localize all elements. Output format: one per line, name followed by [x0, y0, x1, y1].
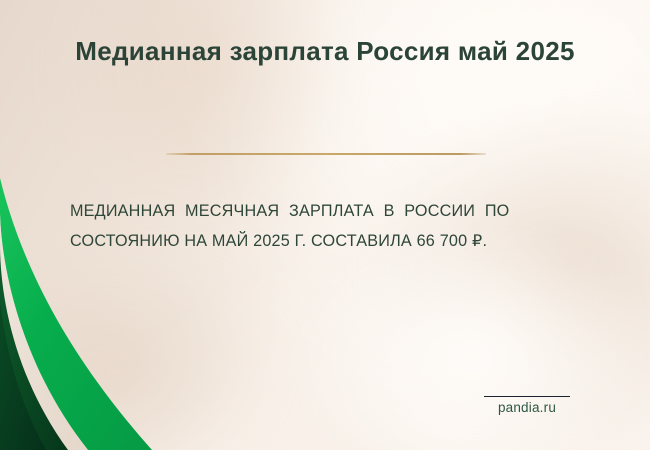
footer-source-label: pandia.ru — [468, 400, 586, 415]
footer-divider — [484, 396, 570, 397]
slide-canvas: Медианная зарплата Россия май 2025 МЕДИА… — [0, 0, 650, 450]
footer-attribution: pandia.ru — [468, 396, 586, 415]
body-line-2: СОСТОЯНИЮ НА МАЙ 2025 Г. СОСТАВИЛА 66 70… — [70, 226, 582, 256]
title-divider — [166, 153, 486, 155]
body-text-block: МЕДИАННАЯ МЕСЯЧНАЯ ЗАРПЛАТА В РОССИИ ПО … — [70, 196, 582, 256]
body-line-1: МЕДИАННАЯ МЕСЯЧНАЯ ЗАРПЛАТА В РОССИИ ПО — [70, 196, 582, 226]
page-title: Медианная зарплата Россия май 2025 — [0, 36, 650, 67]
